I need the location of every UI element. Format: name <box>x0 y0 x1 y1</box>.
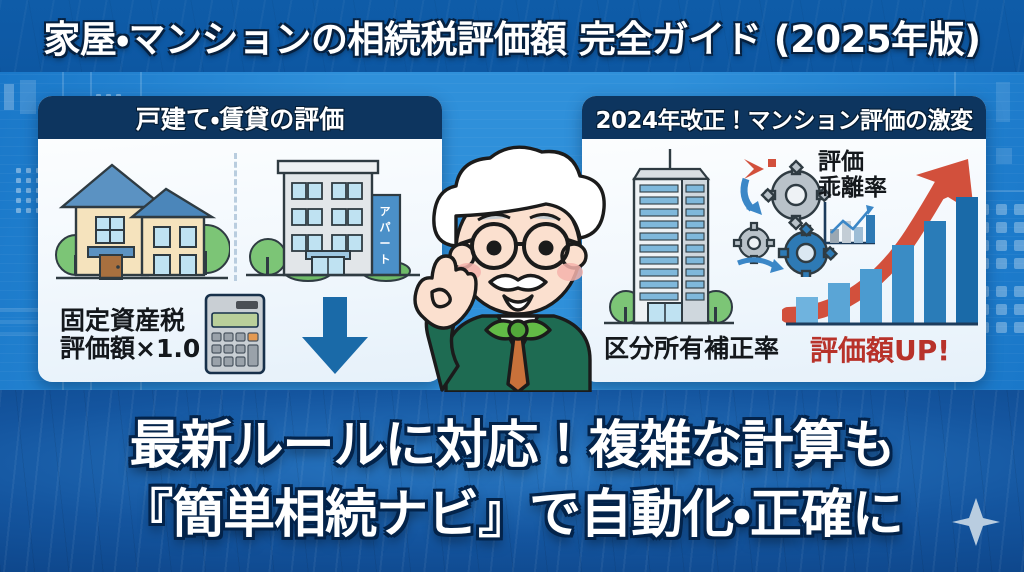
caption-fixed-asset-tax: 固定資産税 評価額×1.0 <box>60 307 200 363</box>
footer-line-2: 『簡単相続ナビ』で自動化・正確に <box>0 472 1024 547</box>
infographic-root: 家屋・マンションの相続税評価額 完全ガイド (2025年版) 戸建て・賃貸の評価 <box>0 0 1024 572</box>
calculator-icon <box>204 293 266 375</box>
professor-mascot <box>398 140 636 392</box>
background-block <box>996 82 1010 122</box>
apartment-building-icon: ア パ ー ト <box>246 153 420 287</box>
apartment-sign-char: ア <box>380 205 391 218</box>
footer-line-1: 最新ルールに対応！複雑な計算も <box>0 403 1024 478</box>
house-icon <box>54 159 230 287</box>
divider-dashed <box>234 153 237 281</box>
card-detached-rental[interactable]: 戸建て・賃貸の評価 <box>38 96 442 382</box>
card-left-heading: 戸建て・賃貸の評価 <box>38 96 442 139</box>
bar-1 <box>796 297 818 323</box>
page-title: 家屋・マンションの相続税評価額 完全ガイド (2025年版) <box>0 0 1024 72</box>
bar-4 <box>892 245 914 323</box>
caption-line2: 評価額×1.0 <box>60 334 200 363</box>
card-mansion-reform[interactable]: 2024年改正！マンション評価の激変 <box>582 96 986 382</box>
background-block <box>996 148 1012 164</box>
title-banner: 家屋・マンションの相続税評価額 完全ガイド (2025年版) <box>0 0 1024 72</box>
bar-3 <box>860 269 882 323</box>
bar-5 <box>924 221 946 323</box>
down-arrow-icon <box>296 295 374 377</box>
svg-text:パ: パ <box>380 221 391 234</box>
background-block <box>20 80 36 114</box>
bar-6 <box>956 197 978 323</box>
background-block <box>4 84 14 110</box>
highlight-hyoukagaku-up: 評価額UP! <box>810 335 950 366</box>
sparkle-icon <box>952 496 1000 548</box>
card-right-body: 評価 乖離率 <box>582 139 986 382</box>
growth-chart <box>782 157 978 335</box>
bar-2 <box>828 283 850 323</box>
card-right-heading: 2024年改正！マンション評価の激変 <box>582 96 986 139</box>
svg-text:ー: ー <box>380 237 391 250</box>
svg-text:ト: ト <box>380 253 391 266</box>
card-left-body: ア パ ー ト 固定資産税 <box>38 139 442 382</box>
caption-line1: 固定資産税 <box>60 306 185 335</box>
